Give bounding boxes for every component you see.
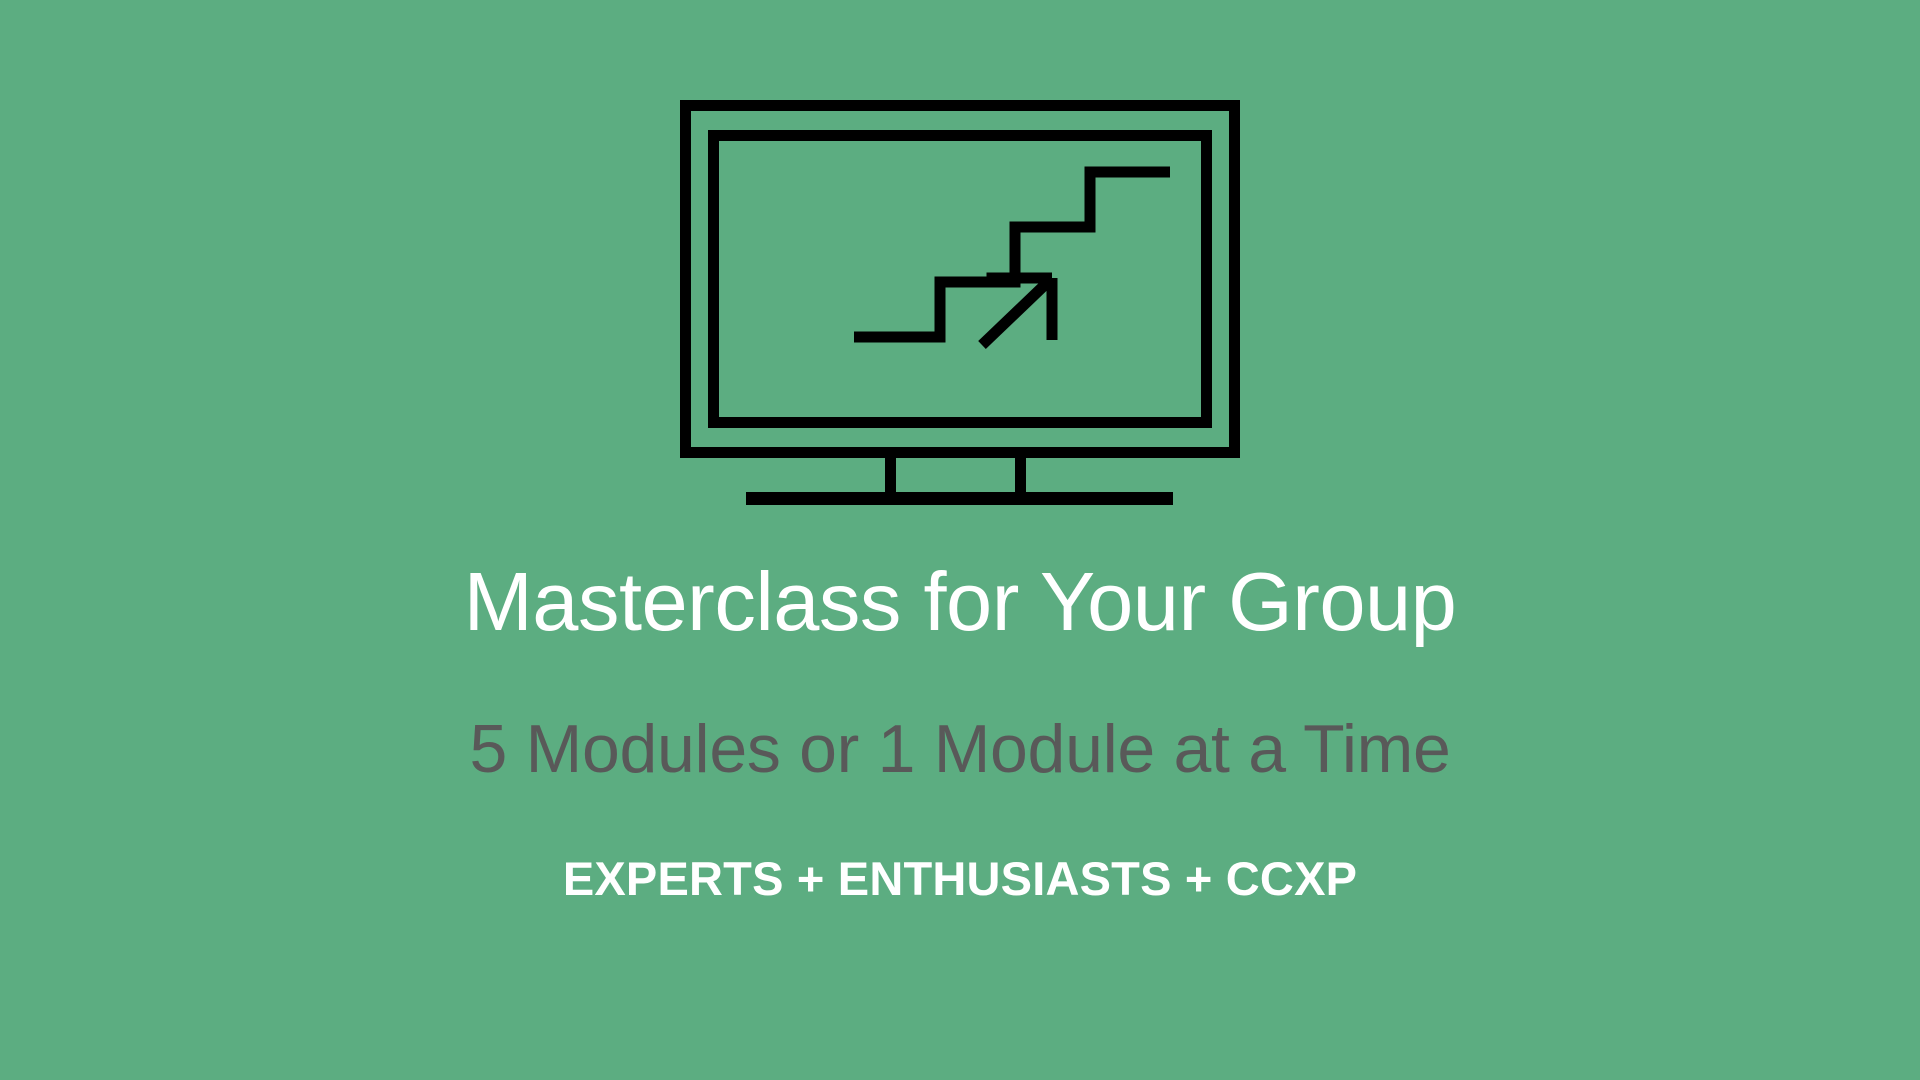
- page-title: Masterclass for Your Group: [464, 560, 1457, 643]
- monitor-stand-neck: [891, 452, 1021, 494]
- page-subtitle: 5 Modules or 1 Module at a Time: [470, 715, 1451, 783]
- text-block: Masterclass for Your Group 5 Modules or …: [0, 560, 1920, 902]
- page-tagline: EXPERTS + ENTHUSIASTS + CCXP: [563, 855, 1357, 902]
- promo-card: Masterclass for Your Group 5 Modules or …: [0, 0, 1920, 1080]
- illustration-container: [0, 0, 1920, 560]
- growth-arrow: [982, 278, 1052, 345]
- monitor-stand-base: [746, 492, 1173, 505]
- monitor-growth-stairs-icon: [680, 100, 1240, 530]
